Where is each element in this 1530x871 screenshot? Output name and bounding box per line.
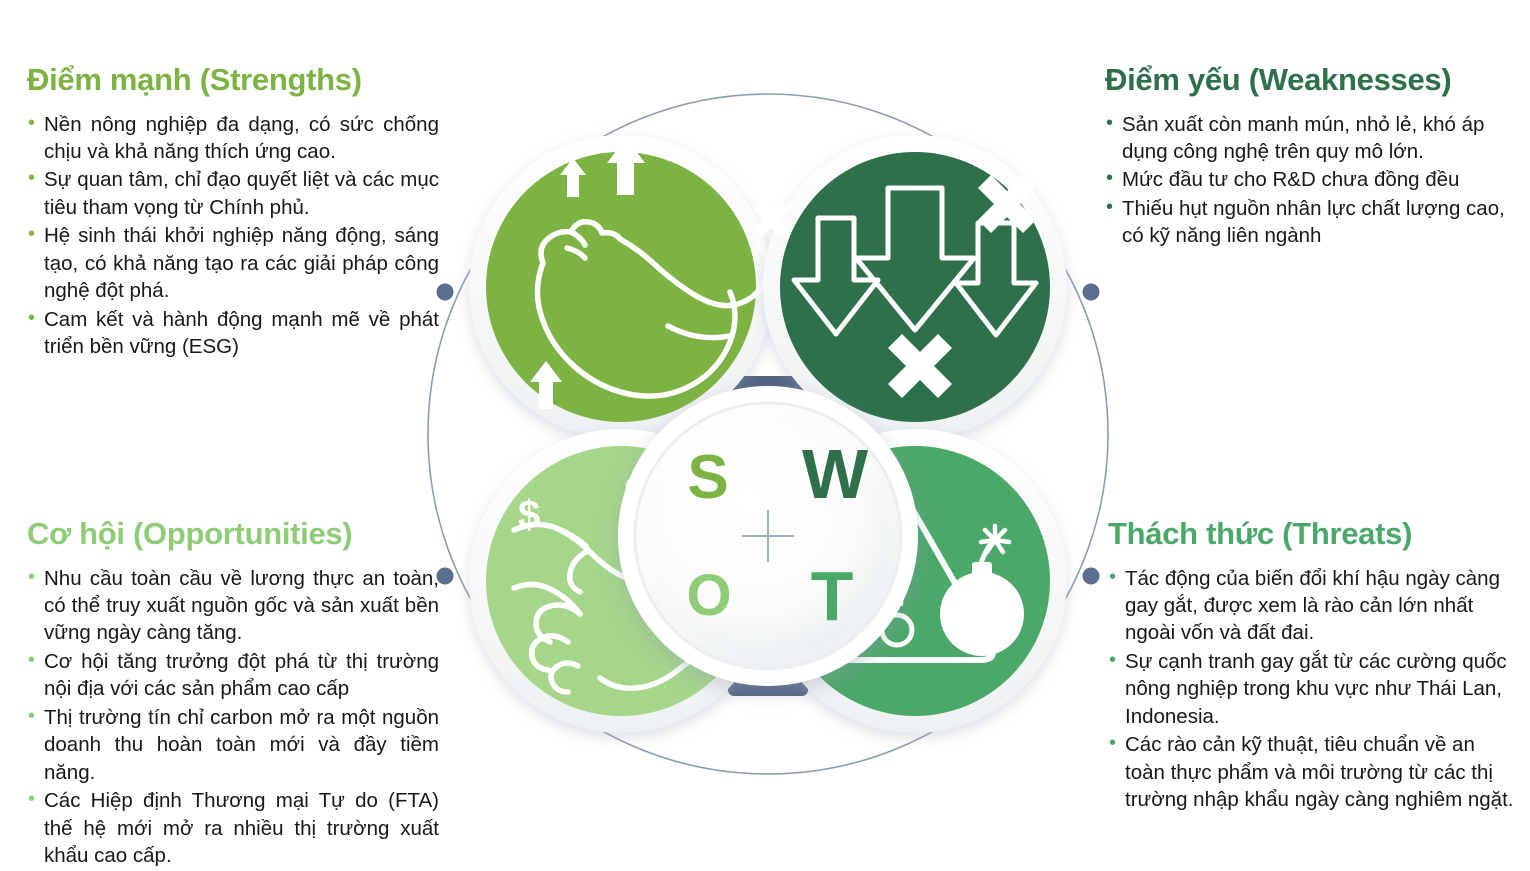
list-item: Thiếu hụt nguồn nhân lực chất lượng cao,…	[1105, 195, 1517, 250]
swot-diagram: $ $ $	[418, 58, 1118, 810]
list-item: Các Hiệp định Thương mại Tự do (FTA) thế…	[27, 787, 439, 869]
bullet-list-threats: Tác động của biến đổi khí hậu ngày càng …	[1108, 565, 1518, 814]
list-item: Nhu cầu toàn cầu về lương thực an toàn, …	[27, 565, 439, 647]
swot-infographic: Điểm mạnh (Strengths) Nền nông nghiệp đa…	[0, 0, 1530, 868]
list-item: Cơ hội tăng trưởng đột phá từ thị trường…	[27, 648, 439, 703]
list-item: Các rào cản kỹ thuật, tiêu chuẩn về an t…	[1108, 731, 1518, 813]
center-letter-o: O	[686, 563, 731, 628]
bullet-list-opportunities: Nhu cầu toàn cầu về lương thực an toàn, …	[27, 565, 439, 870]
panel-opportunities: Cơ hội (Opportunities) Nhu cầu toàn cầu …	[27, 518, 439, 871]
center-hub[interactable]: S W O T	[618, 386, 918, 686]
panel-weaknesses: Điểm yếu (Weaknesses) Sản xuất còn manh …	[1105, 64, 1517, 251]
list-item: Sự cạnh tranh gay gắt từ các cường quốc …	[1108, 648, 1518, 730]
ring-dot-left-top	[437, 284, 454, 301]
list-item: Thị trường tín chỉ carbon mở ra một nguồ…	[27, 704, 439, 786]
panel-strengths: Điểm mạnh (Strengths) Nền nông nghiệp đa…	[27, 64, 439, 362]
ring-dot-right-bottom	[1083, 568, 1100, 585]
list-item: Cam kết và hành động mạnh mẽ về phát tri…	[27, 306, 439, 361]
center-letter-t: T	[811, 557, 854, 635]
list-item: Tác động của biến đổi khí hậu ngày càng …	[1108, 565, 1518, 647]
bullet-list-strengths: Nền nông nghiệp đa dạng, có sức chống ch…	[27, 111, 439, 361]
svg-text:$: $	[518, 493, 540, 537]
heading-opportunities: Cơ hội (Opportunities)	[27, 518, 439, 551]
ring-dot-right-top	[1083, 284, 1100, 301]
center-letter-w: W	[802, 435, 868, 513]
panel-threats: Thách thức (Threats) Tác động của biến đ…	[1108, 518, 1518, 815]
center-letter-s: S	[687, 443, 728, 512]
ring-dot-left-bottom	[437, 568, 454, 585]
list-item: Mức đầu tư cho R&D chưa đồng đều	[1105, 166, 1517, 193]
list-item: Nền nông nghiệp đa dạng, có sức chống ch…	[27, 111, 439, 166]
list-item: Sự quan tâm, chỉ đạo quyết liệt và các m…	[27, 166, 439, 221]
heading-strengths: Điểm mạnh (Strengths)	[27, 64, 439, 97]
heading-threats: Thách thức (Threats)	[1108, 518, 1518, 551]
heading-weaknesses: Điểm yếu (Weaknesses)	[1105, 64, 1517, 97]
list-item: Hệ sinh thái khởi nghiệp năng động, sáng…	[27, 222, 439, 304]
bullet-list-weaknesses: Sản xuất còn manh mún, nhỏ lẻ, khó áp dụ…	[1105, 111, 1517, 250]
list-item: Sản xuất còn manh mún, nhỏ lẻ, khó áp dụ…	[1105, 111, 1517, 166]
